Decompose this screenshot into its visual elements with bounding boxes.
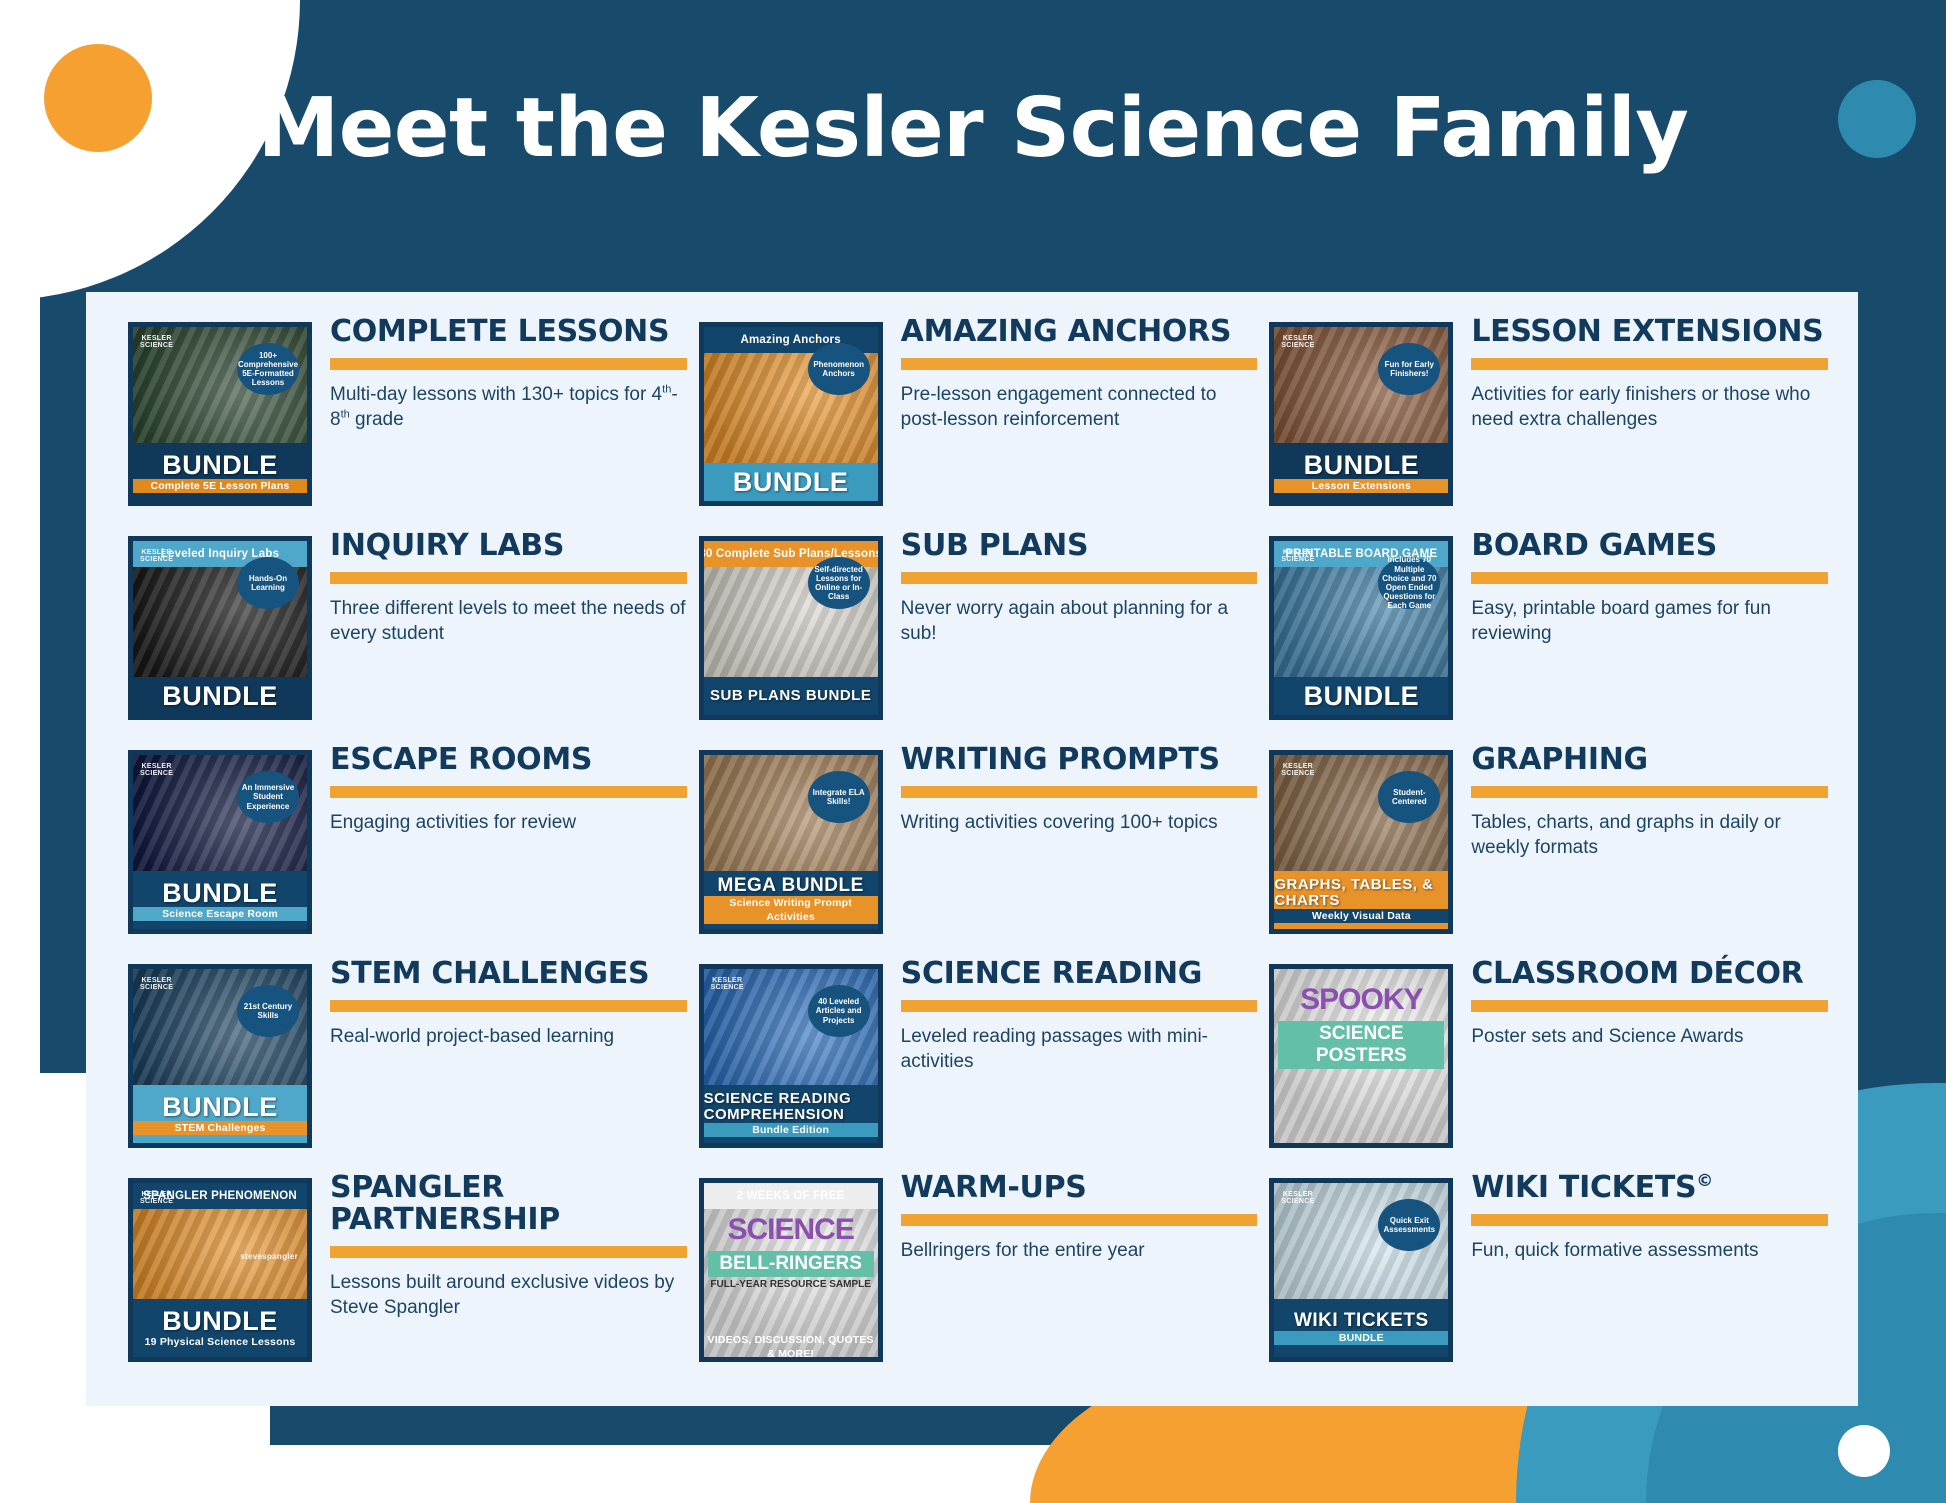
product-text: BOARD GAMESEasy, printable board games f… — [1471, 528, 1828, 647]
thumb-bundle-label: BUNDLE — [162, 1093, 278, 1121]
orange-divider — [330, 572, 687, 584]
thumb-bundle-label: BUNDLE — [162, 879, 278, 907]
product-text: SCIENCE READINGLeveled reading passages … — [901, 956, 1258, 1075]
product-item[interactable]: Amazing AnchorsPhenomenon AnchorsBUNDLEA… — [699, 314, 1258, 528]
product-name: SUB PLANS — [901, 530, 1258, 562]
thumb-bundle-sub: Lesson Extensions — [1274, 479, 1448, 493]
partner-logo-icon: stevespangler — [240, 1253, 298, 1261]
product-item[interactable]: Student-CenteredKESLERSCIENCEGRAPHS, TAB… — [1269, 742, 1828, 956]
thumb-badge: Self-directed Lessons for Online or In-C… — [808, 557, 870, 609]
thumb-bottom-band: BUNDLESTEM Challenges — [133, 1085, 307, 1143]
brand-logo-icon: KESLERSCIENCE — [140, 1191, 173, 1206]
product-text: WIKI TICKETS©Fun, quick formative assess… — [1471, 1170, 1828, 1263]
brand-logo-icon: KESLERSCIENCE — [140, 977, 173, 992]
product-description: Real-world project-based learning — [330, 1024, 687, 1049]
product-description: Lessons built around exclusive videos by… — [330, 1270, 687, 1321]
thumb-bottom-band: VIDEOS, DISCUSSION, QUOTES & MORE! — [704, 1337, 878, 1357]
product-text: SUB PLANSNever worry again about plannin… — [901, 528, 1258, 647]
product-name: WRITING PROMPTS — [901, 744, 1258, 776]
copyright-icon: © — [1696, 1171, 1713, 1191]
product-text: WRITING PROMPTSWriting activities coveri… — [901, 742, 1258, 835]
thumb-badge: Phenomenon Anchors — [808, 343, 870, 395]
product-description: Poster sets and Science Awards — [1471, 1024, 1828, 1049]
thumb-bundle-sub: 19 Physical Science Lessons — [133, 1335, 307, 1349]
thumb-badge: Fun for Early Finishers! — [1378, 343, 1440, 395]
product-text: LESSON EXTENSIONSActivities for early fi… — [1471, 314, 1828, 433]
thumb-bottom-band: BUNDLE19 Physical Science Lessons — [133, 1299, 307, 1357]
product-item[interactable]: SPOOKYSCIENCE POSTERSCLASSROOM DÉCORPost… — [1269, 956, 1828, 1170]
orange-divider — [901, 358, 1258, 370]
product-item[interactable]: Fun for Early Finishers!KESLERSCIENCEBUN… — [1269, 314, 1828, 528]
orange-divider — [330, 786, 687, 798]
thumb-bundle-label: BUNDLE — [162, 451, 278, 479]
products-card: 100+ Comprehensive 5E-Formatted LessonsK… — [86, 292, 1858, 1406]
poster-root: Meet the Kesler Science Family 100+ Comp… — [0, 0, 1946, 1503]
thumb-badge: An Immersive Student Experience — [237, 771, 299, 823]
product-thumbnail[interactable]: PRINTABLE BOARD GAMEIncludes 70 Multiple… — [1269, 536, 1453, 720]
thumb-poster-subtitle: BELL-RINGERS — [708, 1251, 874, 1277]
thumb-bottom-band: BUNDLELesson Extensions — [1274, 443, 1448, 501]
product-item[interactable]: 100+ Comprehensive 5E-Formatted LessonsK… — [128, 314, 687, 528]
orange-divider — [901, 786, 1258, 798]
thumb-bottom-band: SUB PLANS BUNDLE — [704, 677, 878, 715]
orange-divider — [1471, 358, 1828, 370]
thumb-badge: Integrate ELA Skills! — [808, 771, 870, 823]
brand-logo-icon: KESLERSCIENCE — [140, 763, 173, 778]
thumb-bottom-band: BUNDLE — [133, 677, 307, 715]
brand-logo-icon: KESLERSCIENCE — [1281, 335, 1314, 350]
orange-divider — [901, 1214, 1258, 1226]
thumb-bottom-band: BUNDLEComplete 5E Lesson Plans — [133, 443, 307, 501]
product-description: Engaging activities for review — [330, 810, 687, 835]
product-thumbnail[interactable]: Fun for Early Finishers!KESLERSCIENCEBUN… — [1269, 322, 1453, 506]
thumb-badge: Quick Exit Assessments — [1378, 1199, 1440, 1251]
product-item[interactable]: Integrate ELA Skills!MEGA BUNDLEScience … — [699, 742, 1258, 956]
product-name: ESCAPE ROOMS — [330, 744, 687, 776]
product-name: BOARD GAMES — [1471, 530, 1828, 562]
brand-logo-icon: KESLERSCIENCE — [1281, 1191, 1314, 1206]
product-description: Bellringers for the entire year — [901, 1238, 1258, 1263]
thumb-bundle-sub: Bundle Edition — [704, 1123, 878, 1137]
product-description: Never worry again about planning for a s… — [901, 596, 1258, 647]
product-thumbnail[interactable]: SPANGLER PHENOMENONKESLERSCIENCEstevespa… — [128, 1178, 312, 1362]
orange-divider — [1471, 1000, 1828, 1012]
orange-divider — [1471, 1214, 1828, 1226]
product-thumbnail[interactable]: 40 Leveled Articles and ProjectsKESLERSC… — [699, 964, 883, 1148]
white-circle-decoration — [1838, 1425, 1890, 1477]
orange-divider — [901, 572, 1258, 584]
product-description: Multi-day lessons with 130+ topics for 4… — [330, 382, 687, 433]
thumb-badge: Student-Centered — [1378, 771, 1440, 823]
thumb-bundle-label: SCIENCE READING COMPREHENSION — [704, 1091, 878, 1123]
thumb-bottom-band: BUNDLE — [704, 463, 878, 501]
product-name: COMPLETE LESSONS — [330, 316, 687, 348]
product-thumbnail[interactable]: SPOOKYSCIENCE POSTERS — [1269, 964, 1453, 1148]
thumb-bottom-band: GRAPHS, TABLES, & CHARTSWeekly Visual Da… — [1274, 871, 1448, 929]
product-thumbnail[interactable]: 30 Complete Sub Plans/LessonsSelf-direct… — [699, 536, 883, 720]
thumb-bundle-sub: BUNDLE — [1274, 1331, 1448, 1345]
thumb-top-band: 2 WEEKS OF FREE — [704, 1183, 878, 1209]
product-thumbnail[interactable]: Leveled Inquiry LabsHands-On LearningKES… — [128, 536, 312, 720]
thumb-badge: 40 Leveled Articles and Projects — [808, 985, 870, 1037]
product-item[interactable]: An Immersive Student ExperienceKESLERSCI… — [128, 742, 687, 956]
product-thumbnail[interactable]: 21st Century SkillsKESLERSCIENCEBUNDLEST… — [128, 964, 312, 1148]
thumb-poster-subtitle: SCIENCE POSTERS — [1278, 1021, 1444, 1069]
thumb-bundle-sub: Complete 5E Lesson Plans — [133, 479, 307, 493]
product-name: CLASSROOM DÉCOR — [1471, 958, 1828, 990]
thumb-badge: 100+ Comprehensive 5E-Formatted Lessons — [237, 343, 299, 395]
thumb-bundle-label: GRAPHS, TABLES, & CHARTS — [1274, 877, 1448, 909]
thumb-bundle-sub: STEM Challenges — [133, 1121, 307, 1135]
product-item[interactable]: 40 Leveled Articles and ProjectsKESLERSC… — [699, 956, 1258, 1170]
product-text: WARM-UPSBellringers for the entire year — [901, 1170, 1258, 1263]
brand-logo-icon: KESLERSCIENCE — [1281, 549, 1314, 564]
product-thumbnail[interactable]: Quick Exit AssessmentsKESLERSCIENCEWIKI … — [1269, 1178, 1453, 1362]
thumb-bundle-label: SUB PLANS BUNDLE — [710, 688, 871, 704]
product-name: LESSON EXTENSIONS — [1471, 316, 1828, 348]
thumb-bottom-band: BUNDLE — [1274, 677, 1448, 715]
thumb-poster-title: SCIENCE — [708, 1213, 874, 1247]
thumb-bottom-band: BUNDLEScience Escape Room — [133, 871, 307, 929]
thumb-badge: Includes 70 Multiple Choice and 70 Open … — [1378, 557, 1440, 609]
product-description: Leveled reading passages with mini-activ… — [901, 1024, 1258, 1075]
product-text: AMAZING ANCHORSPre-lesson engagement con… — [901, 314, 1258, 433]
product-description: Writing activities covering 100+ topics — [901, 810, 1258, 835]
product-name: WARM-UPS — [901, 1172, 1258, 1204]
product-item[interactable]: Leveled Inquiry LabsHands-On LearningKES… — [128, 528, 687, 742]
thumb-bundle-label: BUNDLE — [1304, 682, 1420, 710]
product-item[interactable]: 30 Complete Sub Plans/LessonsSelf-direct… — [699, 528, 1258, 742]
orange-divider — [330, 1000, 687, 1012]
orange-divider — [901, 1000, 1258, 1012]
thumb-badge: 21st Century Skills — [237, 985, 299, 1037]
orange-divider — [1471, 786, 1828, 798]
brand-logo-icon: KESLERSCIENCE — [140, 549, 173, 564]
product-text: SPANGLER PARTNERSHIPLessons built around… — [330, 1170, 687, 1321]
product-thumbnail[interactable]: 2 WEEKS OF FREESCIENCEBELL-RINGERSFULL-Y… — [699, 1178, 883, 1362]
product-item[interactable]: 2 WEEKS OF FREESCIENCEBELL-RINGERSFULL-Y… — [699, 1170, 1258, 1384]
product-item[interactable]: SPANGLER PHENOMENONKESLERSCIENCEstevespa… — [128, 1170, 687, 1384]
product-item[interactable]: Quick Exit AssessmentsKESLERSCIENCEWIKI … — [1269, 1170, 1828, 1384]
product-description: Three different levels to meet the needs… — [330, 596, 687, 647]
product-description: Activities for early finishers or those … — [1471, 382, 1828, 433]
product-text: ESCAPE ROOMSEngaging activities for revi… — [330, 742, 687, 835]
thumb-bottom-band: MEGA BUNDLEScience Writing Prompt Activi… — [704, 871, 878, 929]
product-name: AMAZING ANCHORS — [901, 316, 1258, 348]
product-description: Easy, printable board games for fun revi… — [1471, 596, 1828, 647]
product-thumbnail[interactable]: 100+ Comprehensive 5E-Formatted LessonsK… — [128, 322, 312, 506]
product-thumbnail[interactable]: Amazing AnchorsPhenomenon AnchorsBUNDLE — [699, 322, 883, 506]
orange-divider — [330, 358, 687, 370]
products-grid: 100+ Comprehensive 5E-Formatted LessonsK… — [128, 314, 1828, 1384]
product-text: COMPLETE LESSONSMulti-day lessons with 1… — [330, 314, 687, 433]
thumb-bottom-band: WIKI TICKETSBUNDLE — [1274, 1299, 1448, 1357]
product-name: STEM CHALLENGES — [330, 958, 687, 990]
thumb-poster-subtitle2: FULL-YEAR RESOURCE SAMPLE — [708, 1279, 874, 1290]
product-thumbnail[interactable]: Student-CenteredKESLERSCIENCEGRAPHS, TAB… — [1269, 750, 1453, 934]
thumb-poster-title: SPOOKY — [1278, 983, 1444, 1017]
orange-divider — [1471, 572, 1828, 584]
orange-divider — [330, 1246, 687, 1258]
product-text: STEM CHALLENGESReal-world project-based … — [330, 956, 687, 1049]
product-thumbnail[interactable]: Integrate ELA Skills!MEGA BUNDLEScience … — [699, 750, 883, 934]
product-item[interactable]: PRINTABLE BOARD GAMEIncludes 70 Multiple… — [1269, 528, 1828, 742]
thumb-badge: Hands-On Learning — [237, 557, 299, 609]
thumb-bundle-sub: Science Escape Room — [133, 907, 307, 921]
product-name: WIKI TICKETS© — [1471, 1172, 1828, 1204]
thumb-bundle-sub: Weekly Visual Data — [1274, 909, 1448, 923]
thumb-bundle-sub: Science Writing Prompt Activities — [704, 896, 878, 924]
product-name: SCIENCE READING — [901, 958, 1258, 990]
brand-logo-icon: KESLERSCIENCE — [711, 977, 744, 992]
thumb-bundle-label: BUNDLE — [162, 682, 278, 710]
product-name: INQUIRY LABS — [330, 530, 687, 562]
thumb-bundle-label: BUNDLE — [1304, 451, 1420, 479]
thumb-bundle-label: WIKI TICKETS — [1294, 1311, 1429, 1331]
product-name: GRAPHING — [1471, 744, 1828, 776]
brand-logo-icon: KESLERSCIENCE — [1281, 763, 1314, 778]
thumb-bundle-label: BUNDLE — [733, 468, 849, 496]
page-title: Meet the Kesler Science Family — [0, 88, 1946, 170]
thumb-bottom-band: SCIENCE READING COMPREHENSIONBundle Edit… — [704, 1085, 878, 1143]
product-text: CLASSROOM DÉCORPoster sets and Science A… — [1471, 956, 1828, 1049]
product-text: INQUIRY LABSThree different levels to me… — [330, 528, 687, 647]
thumb-bundle-sub: VIDEOS, DISCUSSION, QUOTES & MORE! — [704, 1333, 878, 1361]
product-name: SPANGLER PARTNERSHIP — [330, 1172, 687, 1236]
product-description: Tables, charts, and graphs in daily or w… — [1471, 810, 1828, 861]
product-description: Fun, quick formative assessments — [1471, 1238, 1828, 1263]
product-description: Pre-lesson engagement connected to post-… — [901, 382, 1258, 433]
product-item[interactable]: 21st Century SkillsKESLERSCIENCEBUNDLEST… — [128, 956, 687, 1170]
thumb-bundle-label: MEGA BUNDLE — [718, 876, 864, 896]
product-thumbnail[interactable]: An Immersive Student ExperienceKESLERSCI… — [128, 750, 312, 934]
brand-logo-icon: KESLERSCIENCE — [140, 335, 173, 350]
product-text: GRAPHINGTables, charts, and graphs in da… — [1471, 742, 1828, 861]
thumb-bundle-label: BUNDLE — [162, 1307, 278, 1335]
